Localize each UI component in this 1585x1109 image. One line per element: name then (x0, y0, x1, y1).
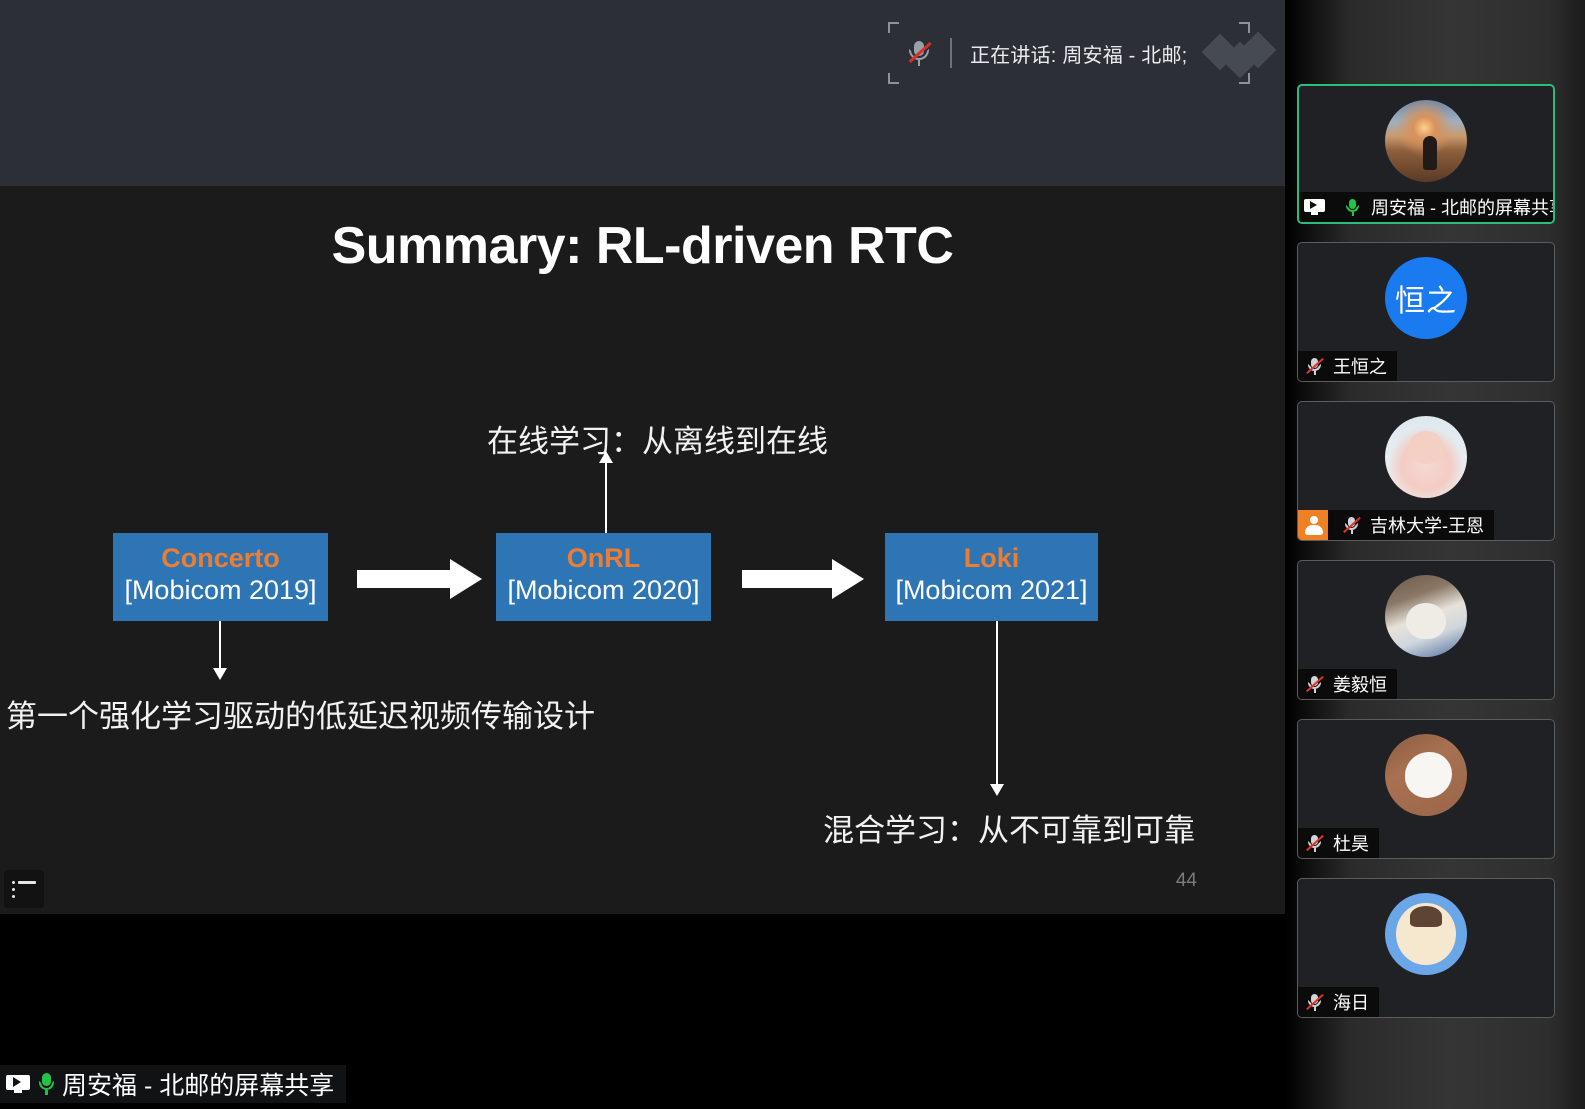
mic-muted-icon (1341, 514, 1363, 536)
arrow-right-1-icon (357, 559, 482, 599)
screen-share-banner[interactable]: 周安福 - 北邮的屏幕共享 (0, 1065, 346, 1103)
chip-corner-top-left (888, 22, 899, 33)
screen-share-badge-icon (1299, 192, 1329, 222)
shared-screen-slide[interactable]: Summary: RL-driven RTC 在线学习：从离线到在线 Conce… (0, 186, 1285, 914)
arrow-up-onrl-icon (596, 451, 616, 533)
top-speaker-bar: 正在讲话: 周安福 - 北邮; (0, 0, 1285, 186)
host-badge-icon (1298, 510, 1328, 540)
participant-name-2: 吉林大学-王恩 (1370, 512, 1484, 538)
avatar (1385, 893, 1467, 975)
slide-diagram: 在线学习：从离线到在线 Concerto [Mobicom 2019] OnRL… (0, 186, 1285, 914)
participant-name-3: 姜毅恒 (1333, 671, 1387, 697)
node-loki[interactable]: Loki [Mobicom 2021] (885, 533, 1098, 621)
slide-menu-icon[interactable] (4, 870, 44, 908)
caption-online-learning: 在线学习：从离线到在线 (487, 416, 828, 461)
node-onrl[interactable]: OnRL [Mobicom 2020] (496, 533, 711, 621)
slide-page-number: 44 (1176, 870, 1197, 892)
participant-label-row-2: 吉林大学-王恩 (1298, 510, 1494, 540)
participant-label-row-5: 海日 (1298, 987, 1379, 1017)
avatar (1385, 416, 1467, 498)
mic-muted-icon (1304, 832, 1326, 854)
chip-corner-bottom-left (888, 73, 899, 84)
participant-tile-4[interactable]: 杜昊 (1297, 719, 1555, 859)
participant-tile-2[interactable]: 吉林大学-王恩 (1297, 401, 1555, 541)
participant-tile-0[interactable]: 周安福 - 北邮的屏幕共享 (1297, 84, 1555, 224)
avatar: 恒之 (1385, 257, 1467, 339)
avatar (1385, 575, 1467, 657)
avatar-initials: 恒之 (1395, 276, 1457, 320)
node-concerto[interactable]: Concerto [Mobicom 2019] (113, 533, 328, 621)
participant-tile-1[interactable]: 恒之 王恒之 (1297, 242, 1555, 382)
active-speaker-label: 正在讲话: 周安福 - 北邮; (970, 39, 1187, 68)
participant-label-row-3: 姜毅恒 (1298, 669, 1397, 699)
participant-label-row-0: 周安福 - 北邮的屏幕共享 (1299, 192, 1553, 222)
node-concerto-ref: [Mobicom 2019] (113, 575, 328, 607)
zoom-meeting-window: 正在讲话: 周安福 - 北邮; Summary: RL-driven RTC 在… (0, 0, 1585, 1109)
screen-share-banner-label: 周安福 - 北邮的屏幕共享 (62, 1066, 334, 1102)
caption-hybrid-learning: 混合学习：从不可靠到可靠 (823, 805, 1195, 850)
mic-stem-shape (918, 60, 920, 66)
mic-on-icon (38, 1073, 54, 1095)
node-onrl-ref: [Mobicom 2020] (496, 575, 711, 607)
participant-label-row-4: 杜昊 (1298, 828, 1379, 858)
screen-share-icon (6, 1075, 30, 1094)
mic-muted-icon (1304, 355, 1326, 377)
arrow-right-2-icon (742, 559, 864, 599)
mic-muted-icon (1304, 673, 1326, 695)
node-onrl-title: OnRL (496, 543, 711, 575)
participant-tile-5[interactable]: 海日 (1297, 878, 1555, 1018)
chip-corner-top-right (1239, 22, 1250, 33)
node-loki-title: Loki (885, 543, 1098, 575)
participant-name-0: 周安福 - 北邮的屏幕共享 (1371, 194, 1555, 220)
participant-label-row-1: 王恒之 (1298, 351, 1397, 381)
participant-name-5: 海日 (1333, 989, 1369, 1015)
node-loki-ref: [Mobicom 2021] (885, 575, 1098, 607)
avatar (1385, 100, 1467, 182)
mic-on-icon (1342, 196, 1364, 218)
avatar (1385, 734, 1467, 816)
participant-tile-3[interactable]: 姜毅恒 (1297, 560, 1555, 700)
participants-filmstrip[interactable]: 周安福 - 北邮的屏幕共享 恒之 王恒之 (1285, 0, 1585, 1109)
mic-muted-icon[interactable] (904, 37, 934, 69)
chip-divider (950, 38, 952, 68)
active-speaker-chip: 正在讲话: 周安福 - 北邮; (888, 22, 1250, 84)
participant-name-1: 王恒之 (1333, 353, 1387, 379)
participant-name-4: 杜昊 (1333, 830, 1369, 856)
mic-muted-icon (1304, 991, 1326, 1013)
app-logo-icon (1205, 33, 1277, 73)
node-concerto-title: Concerto (113, 543, 328, 575)
caption-first-design: 第一个强化学习驱动的低延迟视频传输设计 (6, 691, 595, 736)
arrow-down-concerto-icon (210, 621, 230, 681)
arrow-down-loki-icon (987, 621, 1007, 798)
